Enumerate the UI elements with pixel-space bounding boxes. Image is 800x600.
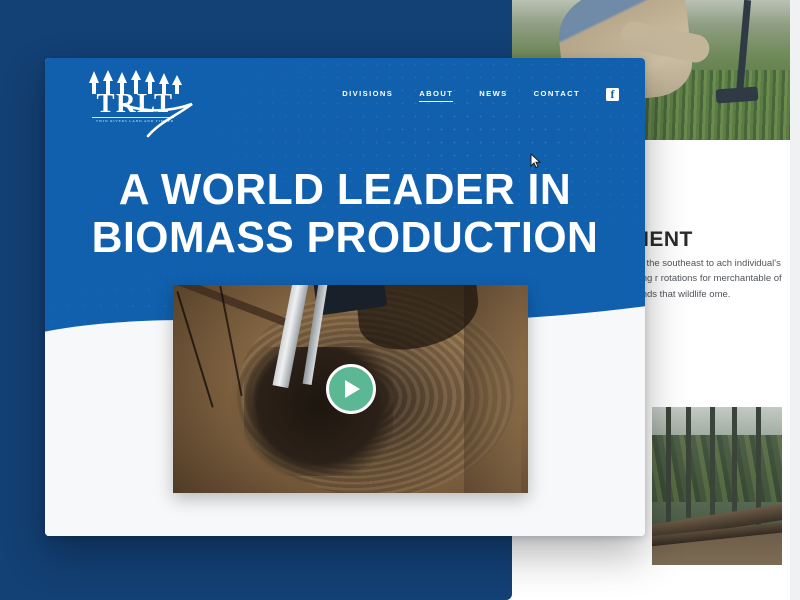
river-swoosh-icon	[118, 100, 206, 138]
headline-line-2: BIOMASS PRODUCTION	[54, 214, 636, 262]
nav-item-divisions[interactable]: DIVISIONS	[342, 89, 393, 101]
site-header: TRLT TWIN RIVERS LAND AND TIMBER DIVISIO…	[45, 58, 645, 138]
nav-item-contact[interactable]: CONTACT	[534, 89, 580, 101]
play-icon	[345, 380, 360, 398]
hero-video-player[interactable]	[173, 285, 528, 493]
main-navigation: DIVISIONS ABOUT NEWS CONTACT	[342, 88, 619, 101]
site-preview-modal: TRLT TWIN RIVERS LAND AND TIMBER DIVISIO…	[45, 58, 645, 536]
play-button[interactable]	[326, 364, 376, 414]
mouse-pointer	[530, 153, 541, 168]
headline-line-1: A WORLD LEADER IN	[119, 165, 571, 214]
background-photo-forest	[652, 407, 782, 565]
video-pit	[244, 347, 393, 476]
nav-item-about[interactable]: ABOUT	[419, 89, 453, 101]
site-logo[interactable]: TRLT TWIN RIVERS LAND AND TIMBER	[80, 70, 190, 132]
facebook-icon[interactable]	[606, 88, 619, 101]
background-right-gutter	[790, 0, 800, 600]
hero-headline: A WORLD LEADER IN BIOMASS PRODUCTION	[54, 166, 636, 261]
nav-item-news[interactable]: NEWS	[479, 89, 507, 101]
